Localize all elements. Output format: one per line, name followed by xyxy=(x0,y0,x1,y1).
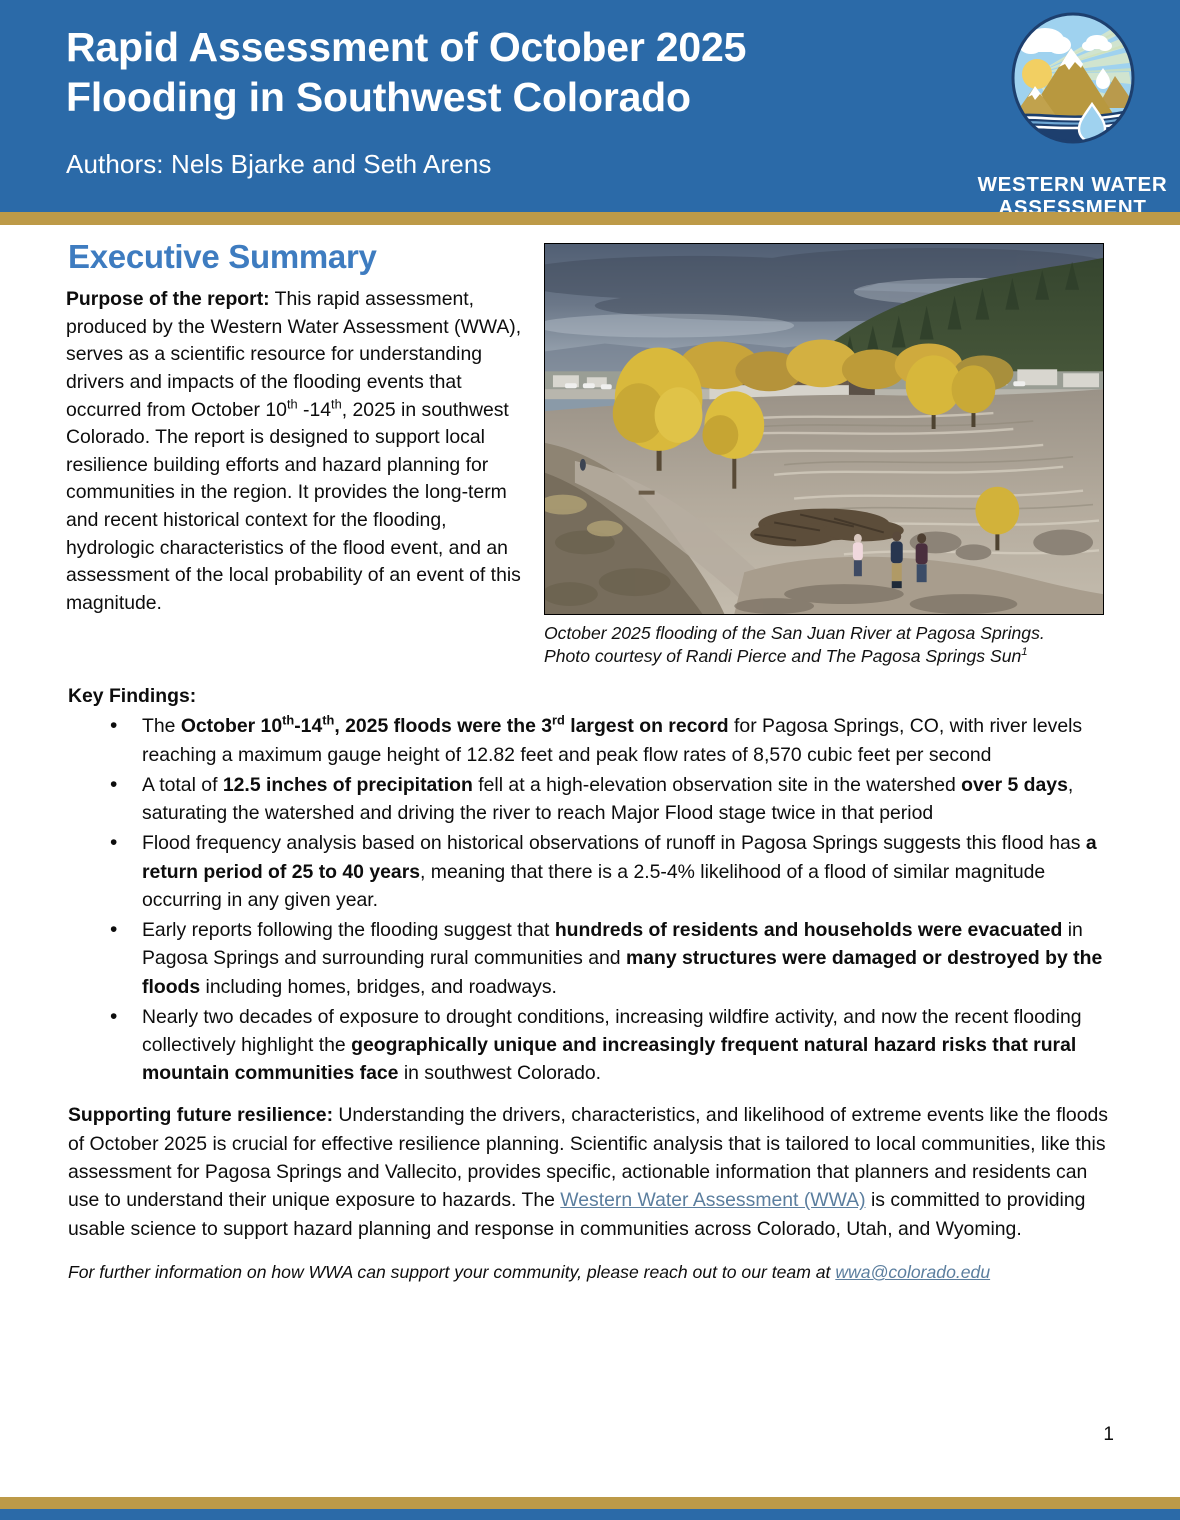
list-item: The October 10th-14th, 2025 floods were … xyxy=(66,712,1118,768)
list-item: Nearly two decades of exposure to drough… xyxy=(66,1003,1118,1088)
figure-caption-line-2: Photo courtesy of Randi Pierce and The P… xyxy=(544,646,1021,666)
document-header-banner: Rapid Assessment of October 2025 Floodin… xyxy=(0,0,1180,212)
title-line-2: Flooding in Southwest Colorado xyxy=(66,74,691,120)
supporting-resilience-label: Supporting future resilience: xyxy=(68,1104,333,1126)
figure-caption-line-1: October 2025 flooding of the San Juan Ri… xyxy=(544,623,1045,643)
flood-photo-image xyxy=(545,244,1103,614)
purpose-label: Purpose of the report: xyxy=(66,288,270,310)
wwa-website-link[interactable]: Western Water Assessment (WWA) xyxy=(560,1189,865,1211)
list-item: A total of 12.5 inches of precipitation … xyxy=(66,771,1118,827)
figure-column: October 2025 flooding of the San Juan Ri… xyxy=(544,225,1106,668)
supporting-resilience-paragraph: Supporting future resilience: Understand… xyxy=(66,1101,1118,1243)
purpose-paragraph: Purpose of the report: This rapid assess… xyxy=(66,286,526,618)
header-gold-divider xyxy=(0,212,1180,225)
key-findings-heading: Key Findings: xyxy=(68,685,1118,708)
purpose-body-b: -14 xyxy=(298,399,331,421)
list-item: Early reports following the flooding sug… xyxy=(66,916,1118,1001)
western-water-assessment-logo-icon xyxy=(1009,12,1137,170)
figure-caption: October 2025 flooding of the San Juan Ri… xyxy=(544,622,1104,668)
logo-text-line-1: WESTERN WATER xyxy=(978,173,1168,196)
document-body: Executive Summary Purpose of the report:… xyxy=(0,225,1180,1285)
purpose-body-c: , 2025 in southwest Colorado. The report… xyxy=(66,399,521,614)
document-page: Rapid Assessment of October 2025 Floodin… xyxy=(0,0,1180,1520)
intro-text-column: Executive Summary Purpose of the report:… xyxy=(66,225,544,618)
footer-gold-bar xyxy=(0,1497,1180,1509)
ordinal-suffix-14: th xyxy=(331,396,342,411)
list-item: Flood frequency analysis based on histor… xyxy=(66,829,1118,914)
intro-section: Executive Summary Purpose of the report:… xyxy=(66,225,1118,668)
contact-note: For further information on how WWA can s… xyxy=(66,1260,1118,1285)
flood-photo xyxy=(544,243,1104,615)
page-number: 1 xyxy=(1103,1424,1114,1446)
page-title: Rapid Assessment of October 2025 Floodin… xyxy=(66,22,926,123)
contact-email-link[interactable]: wwa@colorado.edu xyxy=(835,1262,990,1282)
title-line-1: Rapid Assessment of October 2025 xyxy=(66,24,746,70)
contact-note-text: For further information on how WWA can s… xyxy=(68,1262,835,1282)
ordinal-suffix-10: th xyxy=(287,396,298,411)
figure-caption-footnote: 1 xyxy=(1021,646,1027,658)
authors-line: Authors: Nels Bjarke and Seth Arens xyxy=(66,149,965,180)
section-heading-executive-summary: Executive Summary xyxy=(68,238,526,276)
header-text-block: Rapid Assessment of October 2025 Floodin… xyxy=(0,0,965,180)
key-findings-list: The October 10th-14th, 2025 floods were … xyxy=(66,712,1118,1087)
organization-logo: WESTERN WATER ASSESSMENT A NOAA CAP/RISA… xyxy=(965,0,1180,240)
footer-blue-bar xyxy=(0,1509,1180,1520)
